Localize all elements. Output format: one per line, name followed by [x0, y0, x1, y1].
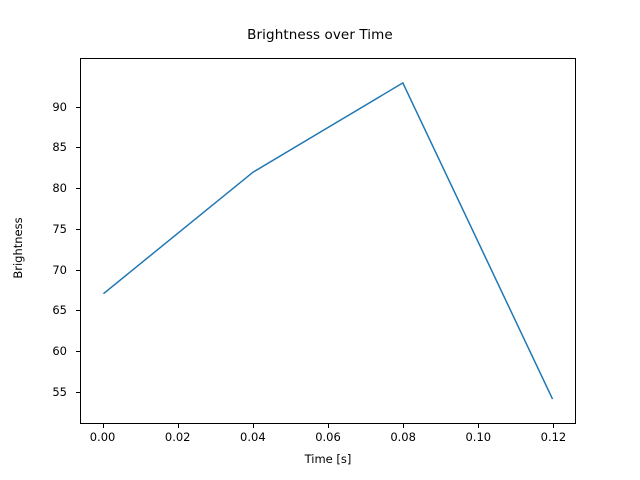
y-tick-mark — [76, 229, 80, 230]
y-tick-label: 85 — [52, 140, 67, 154]
x-tick-mark — [403, 424, 404, 428]
y-tick-mark — [76, 147, 80, 148]
y-tick-mark — [76, 392, 80, 393]
figure-canvas: Brightness over Time 0.000.020.040.060.0… — [0, 0, 640, 480]
x-tick-mark — [478, 424, 479, 428]
x-axis-label: Time [s] — [80, 452, 576, 466]
y-tick-mark — [76, 270, 80, 271]
x-tick-label: 0.10 — [465, 430, 491, 444]
x-tick-label: 0.02 — [165, 430, 191, 444]
y-tick-label: 70 — [52, 263, 67, 277]
y-tick-mark — [76, 107, 80, 108]
y-tick-mark — [76, 310, 80, 311]
line-series-svg — [81, 59, 575, 423]
chart-title: Brightness over Time — [0, 27, 640, 43]
x-tick-label: 0.06 — [315, 430, 341, 444]
y-tick-label: 90 — [52, 100, 67, 114]
y-tick-label: 55 — [52, 385, 67, 399]
brightness-line — [103, 83, 552, 399]
plot-area — [80, 58, 576, 424]
y-tick-mark — [76, 188, 80, 189]
x-tick-mark — [178, 424, 179, 428]
y-tick-label: 65 — [52, 303, 67, 317]
y-tick-label: 75 — [52, 222, 67, 236]
y-tick-label: 60 — [52, 344, 67, 358]
x-tick-label: 0.00 — [90, 430, 116, 444]
x-tick-mark — [253, 424, 254, 428]
x-tick-label: 0.12 — [541, 430, 567, 444]
y-axis-label: Brightness — [11, 168, 25, 328]
x-tick-label: 0.04 — [240, 430, 266, 444]
y-tick-mark — [76, 351, 80, 352]
y-tick-label: 80 — [52, 181, 67, 195]
x-tick-label: 0.08 — [390, 430, 416, 444]
x-tick-mark — [328, 424, 329, 428]
x-tick-mark — [553, 424, 554, 428]
x-tick-mark — [103, 424, 104, 428]
